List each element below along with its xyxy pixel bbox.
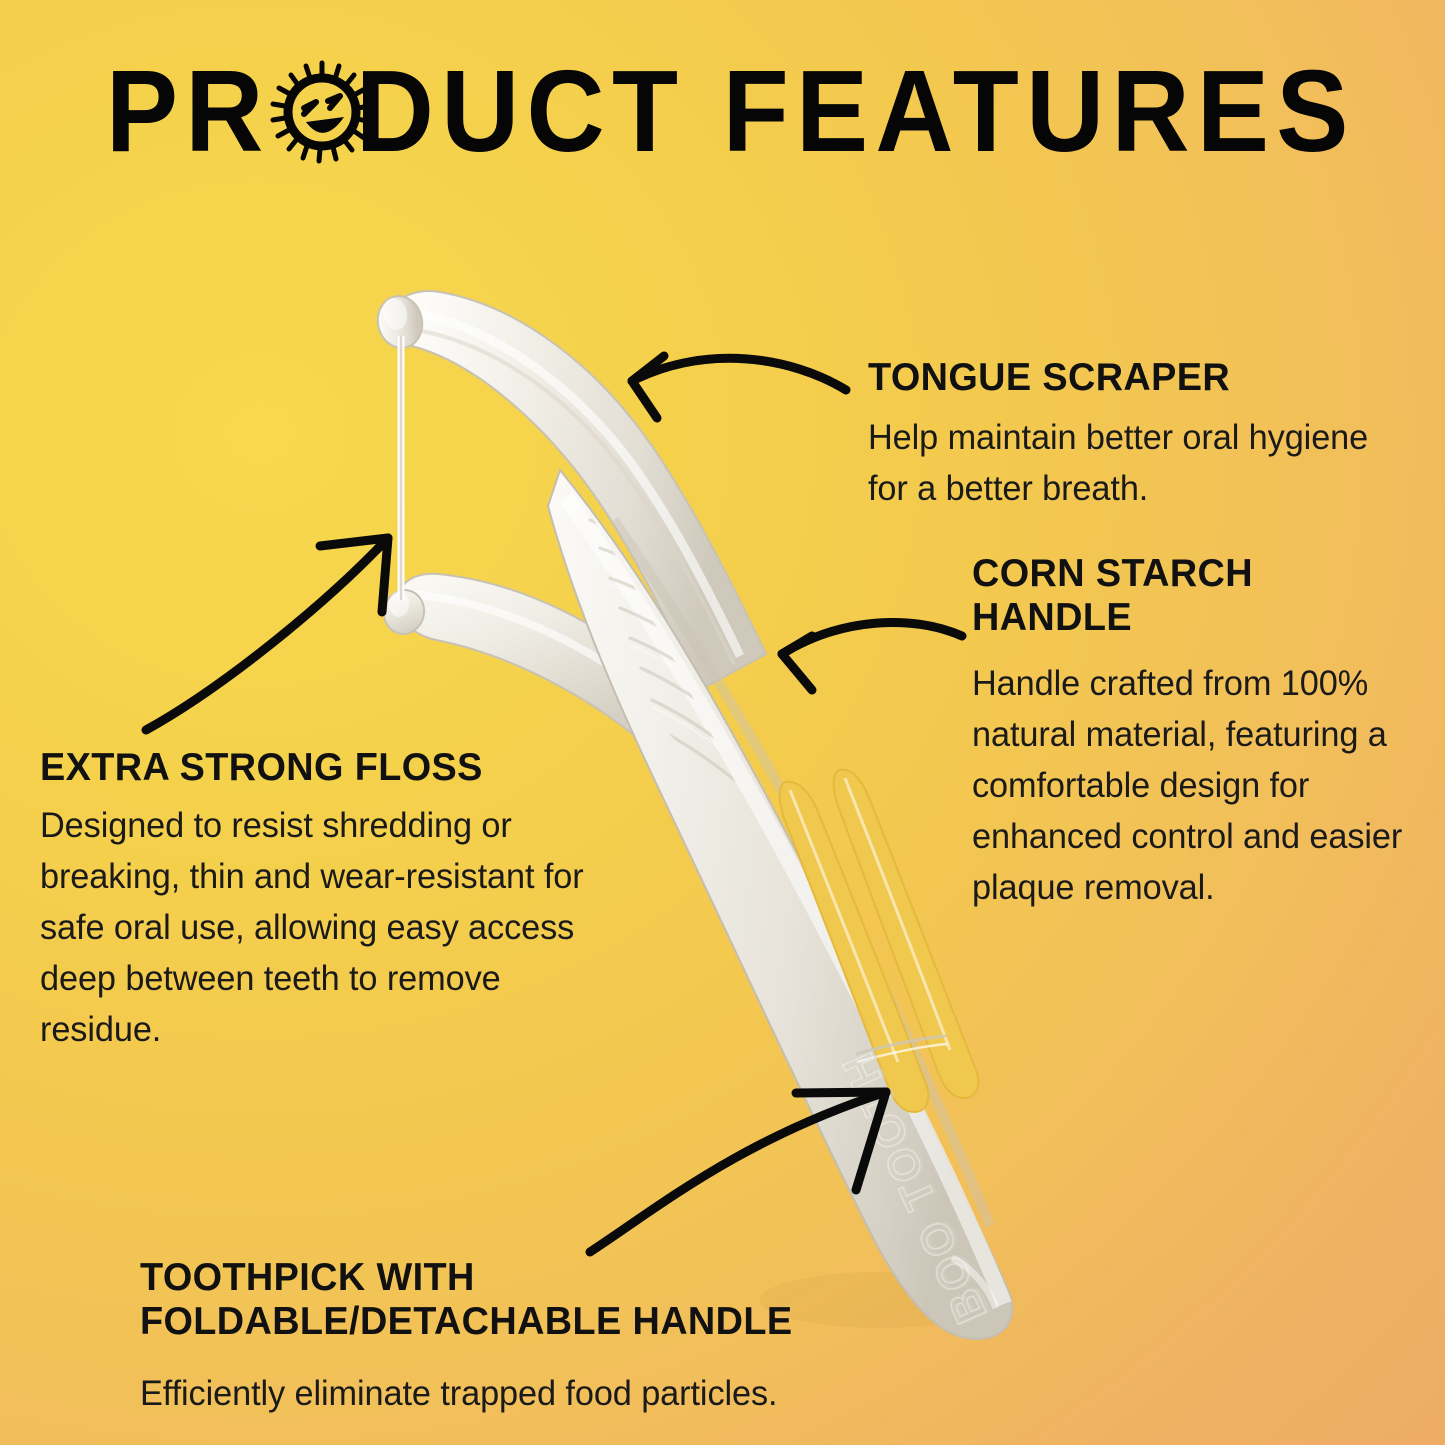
feature-heading-extra-strong-floss: EXTRA STRONG FLOSS [40, 746, 483, 790]
feature-body-tongue-scraper: Help maintain better oral hygiene for a … [868, 412, 1417, 514]
feature-body-extra-strong-floss: Designed to resist shredding or breaking… [40, 800, 589, 1055]
feature-heading-corn-starch-handle: CORN STARCH HANDLE [972, 552, 1418, 640]
feature-heading-tongue-scraper: TONGUE SCRAPER [868, 356, 1230, 400]
feature-body-toothpick-handle: Efficiently eliminate trapped food parti… [140, 1368, 973, 1419]
feature-body-corn-starch-handle: Handle crafted from 100% natural materia… [972, 658, 1433, 913]
infographic-canvas: PR [0, 0, 1445, 1445]
feature-heading-toothpick-handle: TOOTHPICK WITH FOLDABLE/DETACHABLE HANDL… [140, 1256, 906, 1344]
